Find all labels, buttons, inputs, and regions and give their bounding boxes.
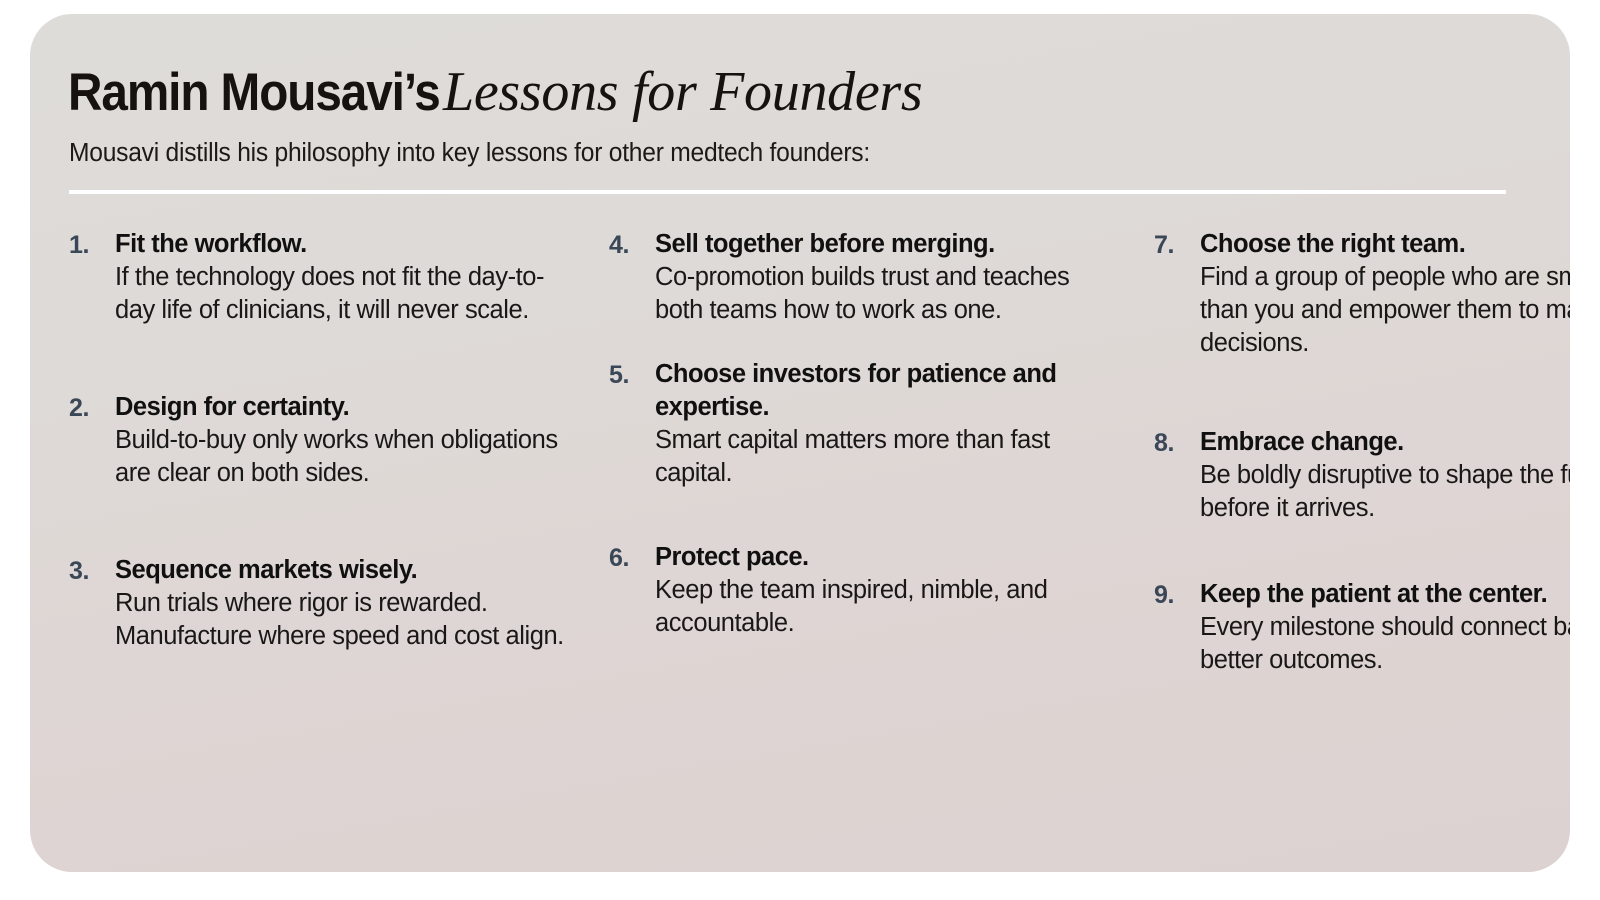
lesson-body: Keep the patient at the center. Every mi… [1200,578,1570,677]
lesson-description: Every milestone should connect back to b… [1200,611,1570,677]
lessons-column-1: 1. Fit the workflow. If the technology d… [69,228,574,677]
lesson-body: Sell together before merging. Co-promoti… [655,228,1114,327]
lesson-item: 3. Sequence markets wisely. Run trials w… [69,554,574,653]
lesson-number: 9. [1154,578,1200,612]
lesson-description: Run trials where rigor is rewarded. Manu… [115,587,574,653]
lesson-heading: Choose investors for patience and expert… [655,358,1114,424]
lesson-heading: Embrace change. [1200,426,1570,459]
lesson-heading: Protect pace. [655,541,1114,574]
lesson-heading: Design for certainty. [115,391,574,424]
lesson-number: 1. [69,228,115,262]
lesson-number: 2. [69,391,115,425]
lesson-description: Co-promotion builds trust and teaches bo… [655,261,1114,327]
page-title-emphasis: Lessons for Founders [443,61,922,123]
lesson-number: 4. [609,228,655,262]
lesson-number: 3. [69,554,115,588]
lesson-item: 1. Fit the workflow. If the technology d… [69,228,574,327]
lessons-columns: 1. Fit the workflow. If the technology d… [66,228,1534,677]
lesson-item: 6. Protect pace. Keep the team inspired,… [609,541,1114,640]
lesson-heading: Fit the workflow. [115,228,574,261]
lesson-heading: Choose the right team. [1200,228,1570,261]
lesson-heading: Sell together before merging. [655,228,1114,261]
lesson-body: Design for certainty. Build-to-buy only … [115,391,574,490]
lesson-body: Protect pace. Keep the team inspired, ni… [655,541,1114,640]
lesson-number: 6. [609,541,655,575]
lesson-description: Find a group of people who are smarter t… [1200,261,1570,360]
lesson-number: 8. [1154,426,1200,460]
lessons-card: Ramin Mousavi’sLessons for Founders Mous… [30,14,1570,872]
page-title: Ramin Mousavi’sLessons for Founders [66,62,1534,123]
lesson-heading: Sequence markets wisely. [115,554,574,587]
lesson-item: 8. Embrace change. Be boldly disruptive … [1154,426,1570,525]
lesson-body: Choose investors for patience and expert… [655,358,1114,490]
lesson-number: 5. [609,358,655,392]
lesson-description: Build-to-buy only works when obligations… [115,424,574,490]
lesson-description: Be boldly disruptive to shape the future… [1200,459,1570,525]
lesson-description: Keep the team inspired, nimble, and acco… [655,574,1114,640]
lesson-item: 7. Choose the right team. Find a group o… [1154,228,1570,360]
lesson-body: Sequence markets wisely. Run trials wher… [115,554,574,653]
lessons-column-2: 4. Sell together before merging. Co-prom… [574,228,1114,677]
lesson-number: 7. [1154,228,1200,262]
lesson-item: 4. Sell together before merging. Co-prom… [609,228,1114,327]
lesson-body: Embrace change. Be boldly disruptive to … [1200,426,1570,525]
lesson-description: Smart capital matters more than fast cap… [655,424,1114,490]
page-title-name: Ramin Mousavi’s [68,63,440,123]
header-divider [69,190,1506,194]
lesson-item: 2. Design for certainty. Build-to-buy on… [69,391,574,490]
lesson-body: Choose the right team. Find a group of p… [1200,228,1570,360]
page-subtitle: Mousavi distills his philosophy into key… [69,137,1483,169]
lesson-item: 5. Choose investors for patience and exp… [609,358,1114,490]
lesson-heading: Keep the patient at the center. [1200,578,1570,611]
lesson-item: 9. Keep the patient at the center. Every… [1154,578,1570,677]
lessons-column-3: 7. Choose the right team. Find a group o… [1114,228,1570,677]
lesson-body: Fit the workflow. If the technology does… [115,228,574,327]
lesson-description: If the technology does not fit the day-t… [115,261,574,327]
